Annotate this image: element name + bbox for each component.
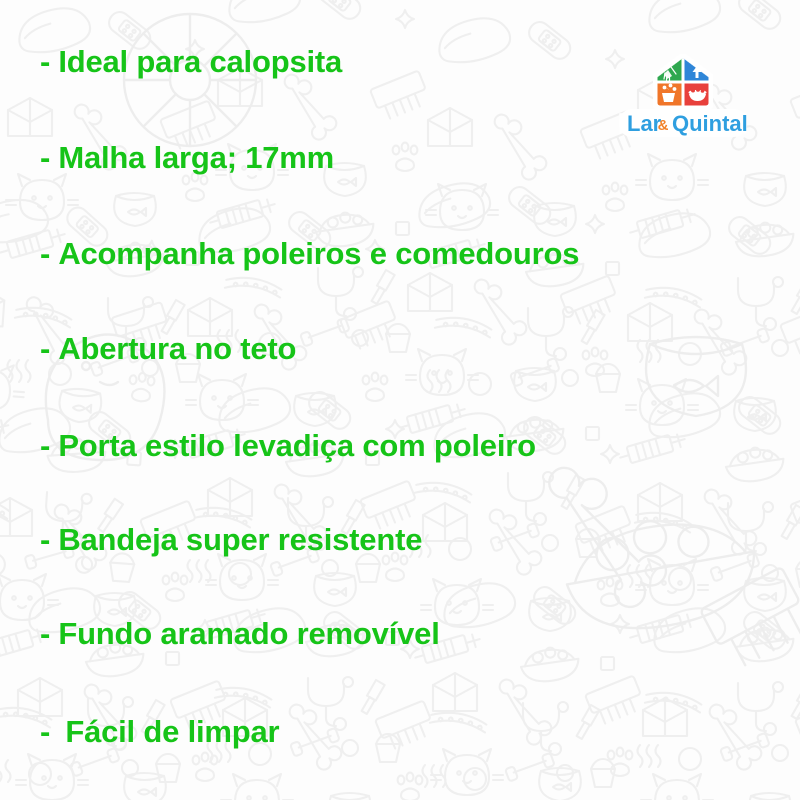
- brand-wordmark-first: Lar: [627, 111, 662, 136]
- brand-wordmark: Lar&Quintal Lar & Quintal: [618, 106, 748, 140]
- list-item: - Acompanha poleiros e comedouros: [40, 238, 780, 269]
- feature-text: Bandeja super resistente: [58, 524, 422, 555]
- bullet-dash: -: [40, 524, 50, 555]
- brand-wordmark-ampersand: &: [658, 117, 669, 134]
- list-item: - Fácil de limpar: [40, 716, 780, 747]
- list-item: - Bandeja super resistente: [40, 524, 780, 555]
- list-item: - Malha larga; 17mm: [40, 142, 780, 173]
- bullet-dash: -: [40, 142, 50, 173]
- list-item: - Fundo aramado removível: [40, 618, 780, 649]
- feature-text: Acompanha poleiros e comedouros: [58, 238, 579, 269]
- bullet-dash: -: [40, 238, 50, 269]
- feature-text: Abertura no teto: [58, 333, 296, 364]
- brand-wordmark-second: Quintal: [672, 111, 748, 136]
- bullet-dash: -: [40, 46, 50, 77]
- feature-text: Fundo aramado removível: [58, 618, 439, 649]
- house-quadrants-icon: [653, 54, 713, 109]
- bullet-dash: -: [40, 430, 50, 461]
- brand-logo[interactable]: Lar&Quintal Lar & Quintal: [618, 54, 748, 146]
- promo-image-canvas: - Ideal para calopsita - Malha larga; 17…: [0, 0, 800, 800]
- feature-text: Porta estilo levadiça com poleiro: [58, 430, 536, 461]
- list-item: - Abertura no teto: [40, 333, 780, 364]
- bullet-dash: -: [40, 333, 50, 364]
- bullet-dash: -: [40, 716, 50, 747]
- feature-text: Ideal para calopsita: [58, 46, 342, 77]
- feature-text: Fácil de limpar: [58, 716, 279, 747]
- bullet-dash: -: [40, 618, 50, 649]
- list-item: - Porta estilo levadiça com poleiro: [40, 430, 780, 461]
- feature-text: Malha larga; 17mm: [58, 142, 334, 173]
